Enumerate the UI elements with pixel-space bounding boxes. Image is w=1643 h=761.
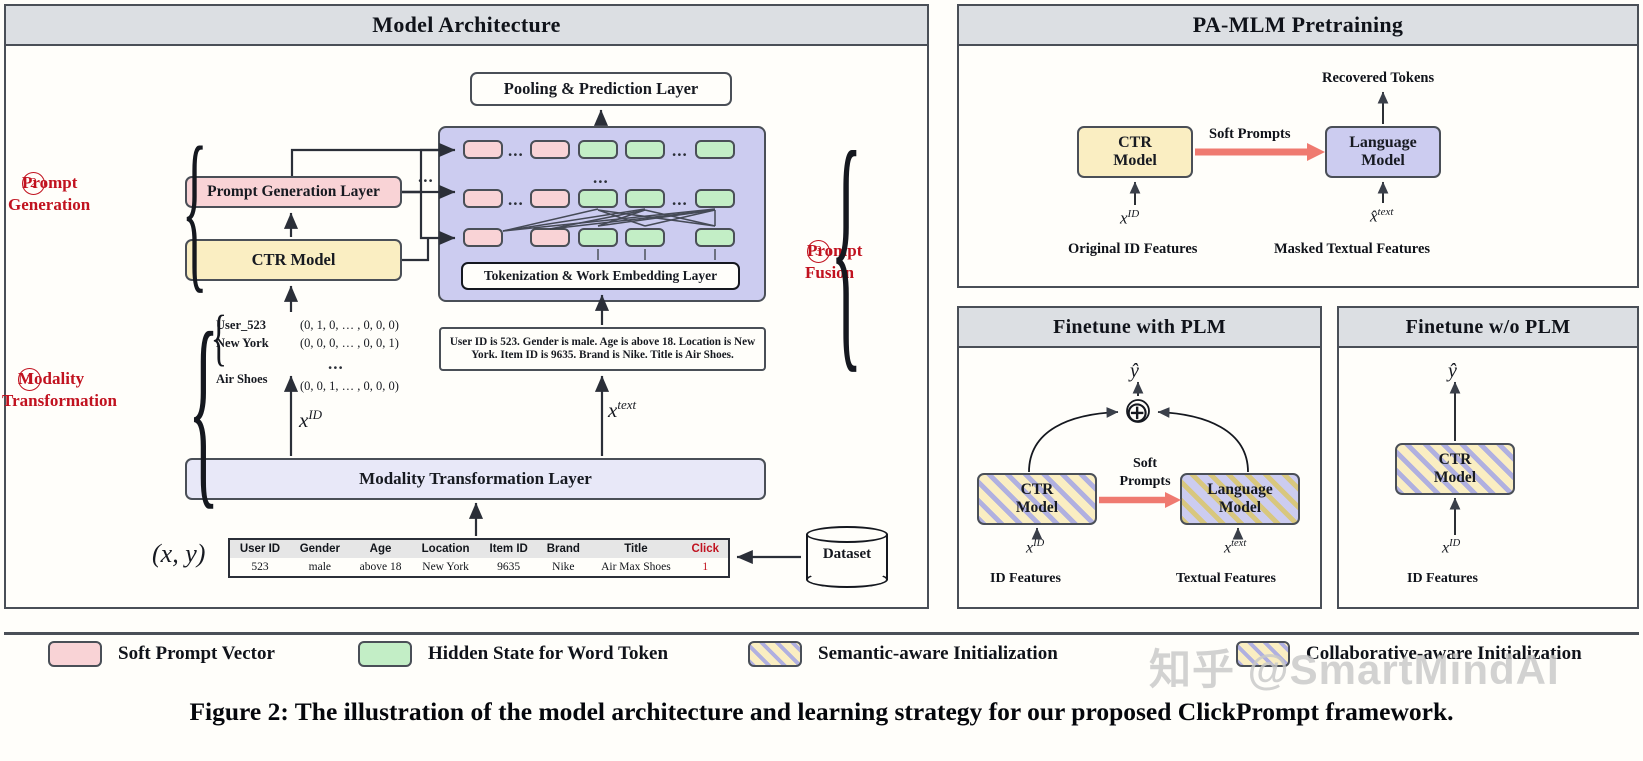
step-label-line2: Generation [8, 194, 90, 216]
table-cell: New York [411, 558, 480, 577]
fanout-ellipsis: ... [418, 167, 434, 187]
pretrain-lm-line2: Model [1361, 152, 1405, 170]
token-row-ellipsis: ... [672, 141, 688, 161]
token-prompt [530, 140, 570, 159]
x-id-sup: ID [308, 407, 322, 422]
masked-textual-features-label: Masked Textual Features [1274, 241, 1430, 258]
legend-swatch-semantic-init [748, 641, 802, 667]
text-prompt-label: User ID is 523. Gender is male. Age is a… [449, 336, 756, 362]
step-number-1: 1 [18, 368, 41, 391]
table-cell: male [290, 558, 350, 577]
table-header-row: User ID Gender Age Location Item ID Bran… [229, 539, 729, 558]
dataset-cylinder: Dataset [806, 526, 888, 588]
ctr-model-box: CTR Model [185, 239, 402, 281]
table-header-cell: Gender [290, 539, 350, 558]
pretrain-soft-prompts-label: Soft Prompts [1209, 126, 1291, 143]
pretrain-x-id-sup: ID [1128, 208, 1140, 220]
pretrain-x-text-hat: x̂text [1370, 206, 1393, 227]
finetune-wo-ctr-line2: Model [1434, 469, 1476, 487]
table-header-cell-click: Click [683, 539, 729, 558]
table-cell: Nike [537, 558, 589, 577]
panel-title-architecture: Model Architecture [6, 6, 927, 46]
token-hidden [625, 189, 665, 208]
pooling-prediction-label: Pooling & Prediction Layer [504, 80, 698, 99]
modality-transformation-label: Modality Transformation Layer [359, 469, 592, 489]
onehot-name: Air Shoes [216, 370, 284, 388]
finetune-id-features-text: ID Features [990, 571, 1061, 586]
legend-swatch-soft-prompt [48, 641, 102, 667]
finetune-x-text: xtext [1224, 538, 1246, 557]
finetune-x-id: xID [1026, 538, 1044, 557]
token-hidden [625, 140, 665, 159]
legend-label-soft-prompt: Soft Prompt Vector [118, 643, 275, 665]
x-text-base: x [608, 398, 617, 422]
table-header-cell: Title [589, 539, 682, 558]
finetune-ctr-line1: CTR [1021, 481, 1054, 499]
brace-prompt-fusion: { [830, 112, 862, 380]
finetune-wo-y-hat: ŷ [1448, 360, 1457, 383]
finetune-plus-icon: ⊕ [1125, 395, 1149, 430]
pretrain-ctr-line1: CTR [1118, 134, 1152, 152]
pretrain-x-text-base: x̂ [1370, 207, 1378, 226]
pretrain-language-model: Language Model [1325, 126, 1441, 178]
watermark: 知乎 @SmartMindAI [1149, 636, 1560, 697]
watermark-text: 知乎 @SmartMindAI [1149, 646, 1560, 693]
pretrain-soft-prompts-text: Soft Prompts [1209, 126, 1291, 142]
pretrain-lm-line1: Language [1349, 134, 1417, 152]
token-hidden [578, 140, 618, 159]
modality-transformation-layer: Modality Transformation Layer [185, 458, 766, 500]
brace-modality-transformation: { [188, 300, 219, 515]
finetune-lm-line2: Model [1219, 499, 1261, 517]
token-row-ellipsis: ... [508, 141, 524, 161]
step-number-2: 2 [22, 172, 45, 195]
table-header-cell: Brand [537, 539, 589, 558]
step-modality-transformation: 1 Modality Transformation [18, 368, 168, 412]
finetune-language-model: Language Model [1180, 473, 1300, 525]
legend-divider [4, 632, 1639, 635]
original-id-features-text: Original ID Features [1068, 241, 1197, 257]
onehot-list: User_523 New York . Air Shoes (0, 1, 0, … [216, 316, 399, 395]
panel-title-finetune-with: Finetune with PLM [959, 308, 1320, 348]
step-label-line2: Transformation [2, 390, 117, 412]
token-row-ellipsis: ... [508, 190, 524, 210]
onehot-vector: (0, 0, 1, … , 0, 0, 0) [300, 377, 399, 395]
finetune-plus-glyph: ⊕ [1125, 397, 1149, 429]
onehot-vector: (0, 1, 0, … , 0, 0, 0) [300, 316, 399, 334]
token-hidden [695, 228, 735, 247]
token-hidden [578, 189, 618, 208]
legend-label-semantic-init: Semantic-aware Initialization [818, 643, 1058, 665]
finetune-textual-features-text: Textual Features [1176, 571, 1276, 586]
pretrain-x-text-sup: text [1378, 206, 1394, 218]
finetune-ctr-line2: Model [1016, 499, 1058, 517]
table-cell: above 18 [350, 558, 412, 577]
finetune-textual-features-label: Textual Features [1176, 571, 1276, 587]
panel-title-pretraining: PA-MLM Pretraining [959, 6, 1637, 46]
original-id-features-label: Original ID Features [1068, 241, 1197, 258]
brace-prompt-generation: { [182, 120, 208, 298]
tokenization-label: Tokenization & Work Embedding Layer [484, 268, 717, 284]
xy-text: (x, y) [152, 539, 205, 568]
x-text-label-arch: xtext [608, 397, 636, 423]
legend-label-hidden-state: Hidden State for Word Token [428, 643, 668, 665]
table-header-cell: Location [411, 539, 480, 558]
token-prompt [463, 189, 503, 208]
pooling-prediction-layer: Pooling & Prediction Layer [470, 72, 732, 106]
finetune-id-features-label: ID Features [990, 571, 1061, 587]
figure-caption-text: Figure 2: The illustration of the model … [189, 697, 1453, 726]
panel-model-architecture: Model Architecture [4, 4, 929, 609]
token-prompt [463, 228, 503, 247]
finetune-x-id-sup: ID [1033, 538, 1044, 549]
finetune-wo-id-features-text: ID Features [1407, 571, 1478, 586]
finetune-y-hat: ŷ [1130, 360, 1139, 383]
token-hidden [695, 140, 735, 159]
finetune-soft-prompts-line1: Soft [1110, 455, 1180, 473]
finetune-ctr-model: CTR Model [977, 473, 1097, 525]
tokenization-embedding-layer: Tokenization & Work Embedding Layer [461, 262, 740, 290]
legend-swatch-hidden-state [358, 641, 412, 667]
finetune-x-text-sup: text [1231, 538, 1246, 549]
step-prompt-generation: 2 Prompt Generation [22, 172, 162, 216]
finetune-wo-y-hat-text: ŷ [1448, 360, 1457, 382]
finetune-lm-line1: Language [1207, 481, 1272, 499]
recovered-tokens-text: Recovered Tokens [1322, 70, 1434, 86]
finetune-soft-prompts-label: Soft Prompts [1110, 455, 1180, 490]
token-row-ellipsis: ... [672, 190, 688, 210]
prompt-generation-label: Prompt Generation Layer [207, 183, 380, 201]
step-prompt-fusion: 3 Prompt Fusion [807, 240, 937, 284]
table-data-row: 523 male above 18 New York 9635 Nike Air… [229, 558, 729, 577]
table-header-cell: Age [350, 539, 412, 558]
table-header-cell: User ID [229, 539, 290, 558]
dataset-label: Dataset [806, 546, 888, 563]
sample-data-table: User ID Gender Age Location Item ID Bran… [228, 538, 730, 578]
step-number-3: 3 [807, 240, 830, 263]
pretrain-ctr-model: CTR Model [1077, 126, 1193, 178]
finetune-wo-id-features-label: ID Features [1407, 571, 1478, 587]
legend-item-semantic-init: Semantic-aware Initialization [748, 641, 1058, 667]
finetune-wo-x-id-sup: ID [1449, 538, 1460, 549]
x-text-sup: text [617, 397, 636, 412]
pretrain-x-id: xID [1120, 208, 1139, 229]
onehot-ellipsis: ... [328, 352, 427, 377]
token-column-ellipsis: ... [593, 168, 609, 188]
token-hidden [578, 228, 618, 247]
finetune-wo-ctr-model: CTR Model [1395, 443, 1515, 495]
finetune-y-hat-text: ŷ [1130, 360, 1139, 382]
finetune-wo-x-id: xID [1442, 538, 1460, 557]
token-hidden [695, 189, 735, 208]
token-prompt [530, 228, 570, 247]
table-header-cell: Item ID [480, 539, 538, 558]
finetune-wo-ctr-line1: CTR [1439, 451, 1472, 469]
figure-caption: Figure 2: The illustration of the model … [0, 697, 1643, 727]
token-prompt [530, 189, 570, 208]
x-id-base: x [299, 408, 308, 432]
table-cell: Air Max Shoes [589, 558, 682, 577]
token-prompt [463, 140, 503, 159]
table-cell-click: 1 [683, 558, 729, 577]
text-prompt-box: User ID is 523. Gender is male. Age is a… [439, 327, 766, 371]
x-id-label-arch: xID [299, 407, 322, 433]
legend-item-soft-prompt: Soft Prompt Vector [48, 641, 275, 667]
finetune-soft-prompts-line2: Prompts [1110, 473, 1180, 491]
ctr-model-label: CTR Model [252, 251, 336, 270]
recovered-tokens-label: Recovered Tokens [1322, 70, 1434, 87]
pretrain-x-id-base: x [1120, 209, 1128, 228]
panel-title-finetune-without: Finetune w/o PLM [1339, 308, 1637, 348]
masked-textual-features-text: Masked Textual Features [1274, 241, 1430, 257]
legend-item-hidden-state: Hidden State for Word Token [358, 641, 668, 667]
token-hidden [625, 228, 665, 247]
prompt-generation-layer: Prompt Generation Layer [185, 176, 402, 208]
onehot-vector: (0, 0, 0, … , 0, 0, 1) [300, 334, 399, 352]
xy-label: (x, y) [152, 539, 205, 569]
pretrain-ctr-line2: Model [1113, 152, 1157, 170]
table-cell: 9635 [480, 558, 538, 577]
table-cell: 523 [229, 558, 290, 577]
